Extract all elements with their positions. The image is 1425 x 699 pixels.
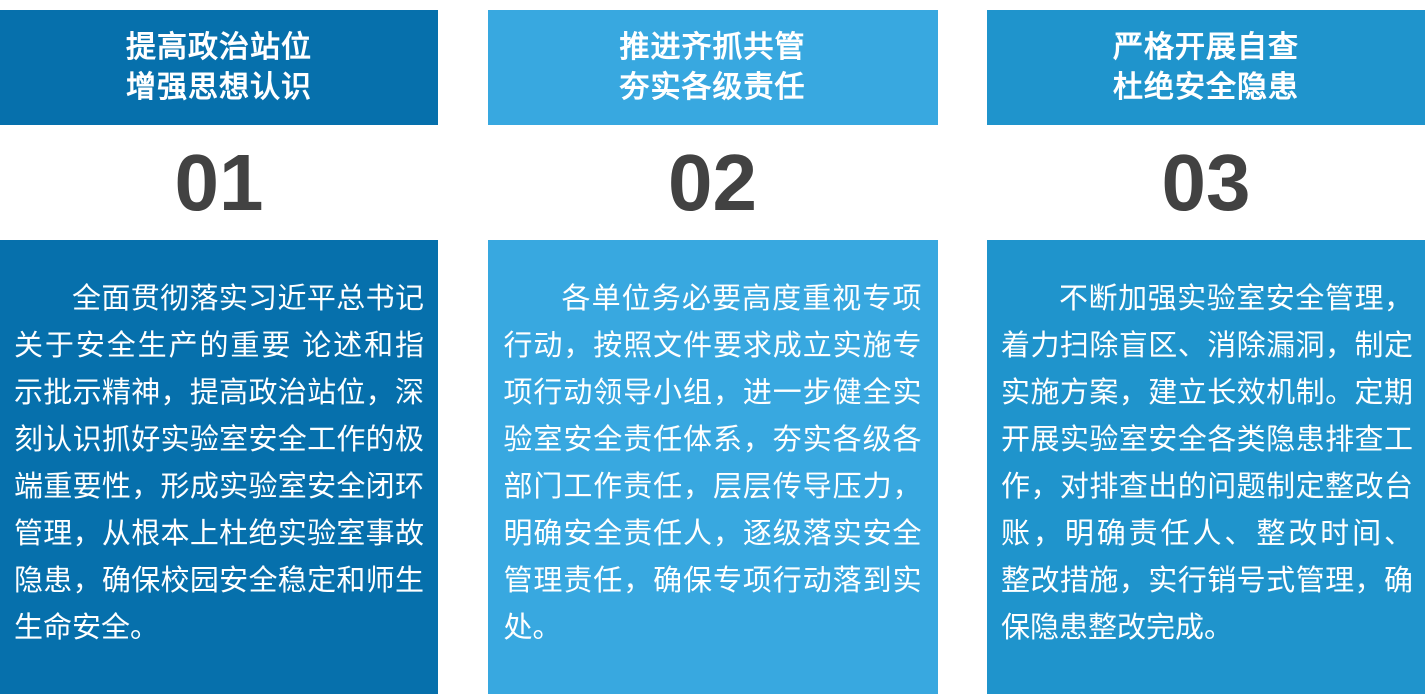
column-body-03: 不断加强实验室安全管理，着力扫除盲区、消除漏洞，制定实施方案，建立长效机制。定期… bbox=[987, 240, 1425, 694]
column-header-03: 严格开展自查 杜绝安全隐患 bbox=[987, 10, 1425, 125]
column-header-02: 推进齐抓共管 夯实各级责任 bbox=[488, 10, 938, 125]
column-number-01: 01 bbox=[0, 125, 438, 240]
header-line-1: 推进齐抓共管 bbox=[620, 28, 806, 68]
header-line-1: 提高政治站位 bbox=[126, 28, 312, 68]
column-number-03: 03 bbox=[987, 125, 1425, 240]
header-line-2: 增强思想认识 bbox=[126, 68, 312, 108]
column-body-01: 全面贯彻落实习近平总书记关于安全生产的重要 论述和指示批示精神，提高政治站位，深… bbox=[0, 240, 438, 694]
info-column-01: 提高政治站位 增强思想认识 01 全面贯彻落实习近平总书记关于安全生产的重要 论… bbox=[0, 10, 438, 694]
info-column-02: 推进齐抓共管 夯实各级责任 02 各单位务必要高度重视专项行动，按照文件要求成立… bbox=[488, 10, 938, 694]
header-line-2: 夯实各级责任 bbox=[620, 68, 806, 108]
column-header-01: 提高政治站位 增强思想认识 bbox=[0, 10, 438, 125]
header-line-1: 严格开展自查 bbox=[1113, 28, 1299, 68]
header-line-2: 杜绝安全隐患 bbox=[1113, 68, 1299, 108]
column-body-02: 各单位务必要高度重视专项行动，按照文件要求成立实施专项行动领导小组，进一步健全实… bbox=[488, 240, 938, 694]
info-column-03: 严格开展自查 杜绝安全隐患 03 不断加强实验室安全管理，着力扫除盲区、消除漏洞… bbox=[987, 10, 1425, 694]
column-number-02: 02 bbox=[488, 125, 938, 240]
three-column-infographic: 提高政治站位 增强思想认识 01 全面贯彻落实习近平总书记关于安全生产的重要 论… bbox=[0, 0, 1425, 699]
